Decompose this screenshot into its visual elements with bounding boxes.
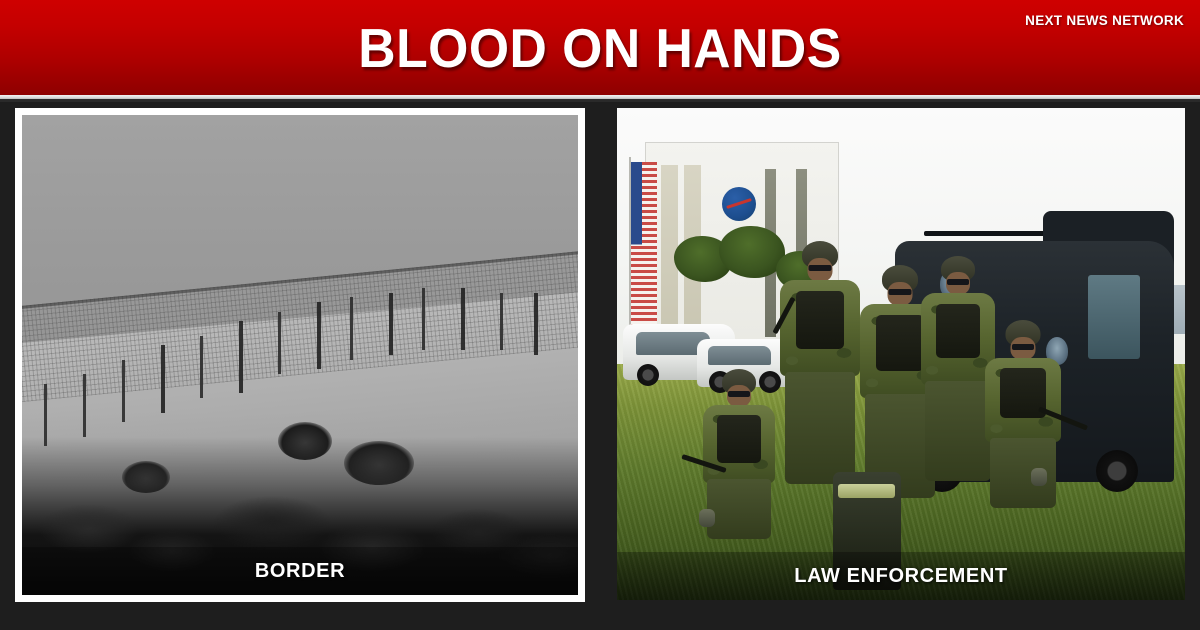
- sunglasses-icon: [809, 265, 832, 271]
- header-divider-dark: [0, 99, 1200, 102]
- legs: [707, 479, 771, 539]
- fence-post: [422, 288, 425, 350]
- fence-post: [161, 345, 165, 412]
- knee-pad: [1031, 468, 1047, 486]
- page-title: BLOOD ON HANDS: [36, 0, 1164, 95]
- fence-post: [83, 374, 86, 436]
- vehicle-window: [708, 346, 771, 365]
- vehicle-wheel: [637, 364, 659, 386]
- tactical-vest: [796, 291, 844, 349]
- fence-post: [122, 360, 125, 422]
- sunglasses-icon: [728, 391, 750, 397]
- fence-post: [534, 293, 538, 355]
- nasa-logo-icon: [722, 187, 756, 221]
- vehicle-wheel: [1096, 450, 1138, 492]
- fence-post: [239, 321, 243, 393]
- sunglasses-icon: [888, 289, 911, 295]
- sunglasses-icon: [1012, 344, 1034, 350]
- fence-post: [389, 293, 393, 355]
- tactical-vest: [936, 304, 980, 358]
- panel-law-enforcement[interactable]: LAW ENFORCEMENT: [617, 108, 1185, 600]
- fence-post: [317, 302, 321, 369]
- fence-post: [200, 336, 203, 398]
- caption-border: BORDER: [22, 547, 578, 595]
- fence-post: [500, 293, 503, 351]
- fence-post: [350, 297, 353, 359]
- news-graphic-stage: BLOOD ON HANDS NEXT NEWS NETWORK: [0, 0, 1200, 630]
- header-bar: BLOOD ON HANDS NEXT NEWS NETWORK: [0, 0, 1200, 95]
- law-enforcement-photo: LAW ENFORCEMENT: [617, 108, 1185, 600]
- network-branding: NEXT NEWS NETWORK: [1025, 13, 1184, 28]
- tactical-vest: [717, 415, 761, 463]
- legs: [785, 372, 855, 484]
- knee-pad: [699, 509, 715, 527]
- armored-vehicle-window: [1088, 275, 1139, 359]
- border-photo: BORDER: [22, 115, 578, 595]
- sunglasses-icon: [947, 279, 969, 285]
- fence-post: [461, 288, 465, 350]
- fence-post: [278, 312, 281, 374]
- panel-border[interactable]: BORDER: [15, 108, 585, 602]
- caption-law-enforcement: LAW ENFORCEMENT: [617, 552, 1185, 600]
